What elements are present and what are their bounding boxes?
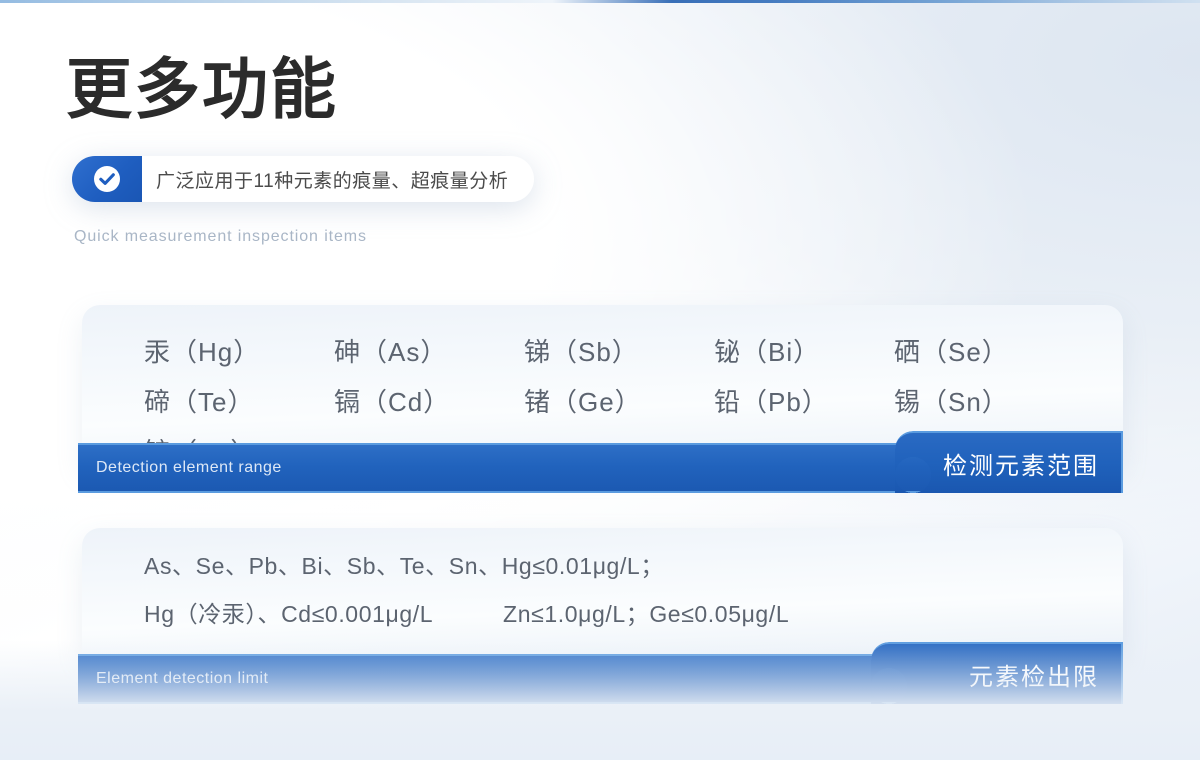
detection-limit-line: As、Se、Pb、Bi、Sb、Te、Sn、Hg≤0.01μg/L；	[144, 542, 1123, 590]
detection-limit-card: As、Se、Pb、Bi、Sb、Te、Sn、Hg≤0.01μg/L； Hg（冷汞）…	[82, 528, 1123, 656]
element-item: 锑（Sb）	[524, 327, 714, 377]
detection-limit-line: Hg（冷汞）、Cd≤0.001μg/L Zn≤1.0μg/L；Ge≤0.05μg…	[144, 590, 1123, 638]
element-item: 硒（Se）	[894, 327, 1074, 377]
element-item: 铋（Bi）	[714, 327, 894, 377]
element-item: 砷（As）	[334, 327, 524, 377]
element-range-tab: 检测元素范围	[895, 431, 1123, 493]
detection-limit-bar-label: Element detection limit	[96, 670, 268, 688]
detection-limit-tab-label: 元素检出限	[969, 657, 1099, 692]
tagline-badge	[72, 156, 142, 202]
page-root: 更多功能 广泛应用于11种元素的痕量、超痕量分析 Quick measureme…	[0, 0, 1200, 760]
element-item: 锗（Ge）	[524, 377, 714, 427]
element-range-bar-label: Detection element range	[96, 459, 282, 477]
subtitle-english: Quick measurement inspection items	[74, 228, 367, 246]
element-item: 铅（Pb）	[714, 377, 894, 427]
panel-detection-element-range: 汞（Hg） 砷（As） 锑（Sb） 铋（Bi） 硒（Se） 碲（Te） 镉（Cd…	[78, 305, 1123, 510]
element-item: 碲（Te）	[144, 377, 334, 427]
element-range-tab-label: 检测元素范围	[943, 446, 1099, 481]
element-item: 汞（Hg）	[144, 327, 334, 377]
page-title: 更多功能	[66, 52, 766, 130]
tagline-text: 广泛应用于11种元素的痕量、超痕量分析	[156, 166, 508, 193]
detection-limit-tab: 元素检出限	[871, 642, 1123, 704]
detection-limit-rows: As、Se、Pb、Bi、Sb、Te、Sn、Hg≤0.01μg/L； Hg（冷汞）…	[82, 528, 1123, 638]
panel-element-detection-limit: As、Se、Pb、Bi、Sb、Te、Sn、Hg≤0.01μg/L； Hg（冷汞）…	[78, 528, 1123, 713]
header: 更多功能 广泛应用于11种元素的痕量、超痕量分析 Quick measureme…	[66, 52, 766, 130]
tagline-pill: 广泛应用于11种元素的痕量、超痕量分析	[138, 156, 534, 202]
element-item: 镉（Cd）	[334, 377, 524, 427]
tagline-banner: 广泛应用于11种元素的痕量、超痕量分析	[72, 156, 534, 202]
element-item: 锡（Sn）	[894, 377, 1074, 427]
element-row: 汞（Hg） 砷（As） 锑（Sb） 铋（Bi） 硒（Se）	[144, 327, 1123, 377]
element-row: 碲（Te） 镉（Cd） 锗（Ge） 铅（Pb） 锡（Sn）	[144, 377, 1123, 427]
check-circle-icon	[93, 165, 121, 193]
top-accent-strip	[0, 0, 1200, 3]
